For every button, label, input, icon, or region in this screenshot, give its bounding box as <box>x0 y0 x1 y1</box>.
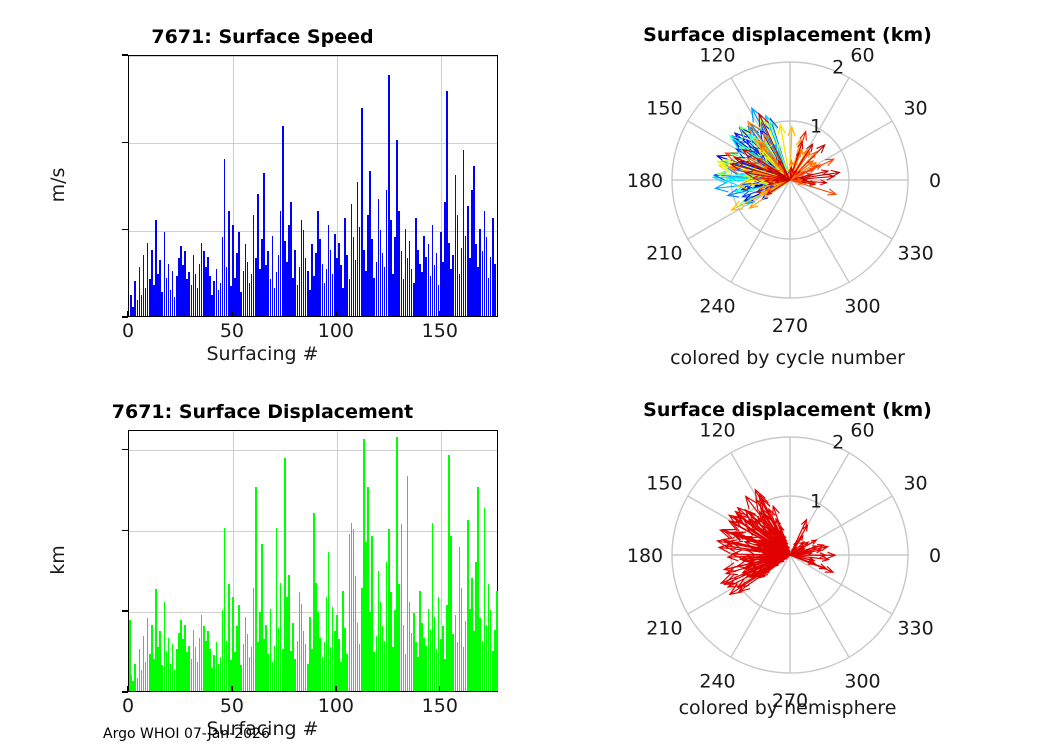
y-axis-tick-mark <box>122 449 128 450</box>
surface-speed-panel: 7671: Surface Speed 00.511.5050100150 m/… <box>0 0 525 375</box>
y-axis-tick-mark <box>122 54 128 55</box>
y-axis-tick-mark <box>122 610 128 611</box>
polar-grid-spoke <box>790 555 849 657</box>
x-axis-tick-label: 100 <box>318 695 354 717</box>
polar-angle-label: 30 <box>903 473 927 495</box>
displacement-chart-title: 7671: Surface Displacement <box>0 401 525 423</box>
x-axis-tick-mark <box>231 311 232 317</box>
x-axis-tick-label: 50 <box>220 320 244 342</box>
polar-angle-label: 0 <box>929 170 941 192</box>
x-axis-tick-mark <box>439 686 440 692</box>
x-axis-tick-label: 150 <box>422 320 458 342</box>
polar-angle-label: 300 <box>844 296 880 318</box>
polar-angle-label: 0 <box>929 545 941 567</box>
polar-angle-label: 180 <box>627 170 663 192</box>
polar-grid-spoke <box>790 180 892 239</box>
polar-radial-label-2: 2 <box>832 432 844 454</box>
polar-angle-label: 330 <box>897 618 933 640</box>
x-axis-tick-mark <box>335 311 336 317</box>
polar-cycle-plot: 030609012015018021024027030033012 <box>580 48 1000 348</box>
y-axis-tick-mark <box>122 229 128 230</box>
x-axis-tick-label: 0 <box>122 320 134 342</box>
polar-angle-label: 150 <box>646 98 682 120</box>
bar <box>496 591 498 691</box>
polar-angle-label: 60 <box>850 423 874 441</box>
polar-angle-label: 120 <box>699 48 735 66</box>
polar-radial-label-1: 1 <box>810 490 822 512</box>
polar-angle-label: 300 <box>844 671 880 693</box>
polar-angle-label: 330 <box>897 243 933 265</box>
x-axis-tick-label: 150 <box>422 695 458 717</box>
polar-angle-label: 60 <box>850 48 874 66</box>
bar-series <box>129 56 497 316</box>
speed-chart-title: 7671: Surface Speed <box>0 26 525 48</box>
speed-x-axis-label: Surfacing # <box>0 343 525 365</box>
displacement-plot-area <box>128 430 498 692</box>
polar-hemisphere-panel: Surface displacement (km) 03060901201501… <box>525 375 1050 750</box>
x-axis-tick-label: 50 <box>220 695 244 717</box>
bar-series <box>129 431 497 691</box>
polar-angle-label: 120 <box>699 423 735 441</box>
x-axis-tick-label: 0 <box>122 695 134 717</box>
polar-angle-label: 150 <box>646 473 682 495</box>
x-axis-tick-mark <box>127 686 128 692</box>
polar-cycle-caption: colored by cycle number <box>525 347 1050 369</box>
x-axis-tick-label: 100 <box>318 320 354 342</box>
polar-angle-label: 30 <box>903 98 927 120</box>
polar-hemisphere-caption: colored by hemisphere <box>525 697 1050 719</box>
polar-angle-label: 240 <box>699 296 735 318</box>
x-axis-tick-mark <box>127 311 128 317</box>
surface-displacement-panel: 7671: Surface Displacement 00.511.505010… <box>0 375 525 750</box>
polar-hemisphere-title: Surface displacement (km) <box>525 399 1050 421</box>
polar-angle-label: 210 <box>646 618 682 640</box>
speed-y-axis-label: m/s <box>47 125 69 245</box>
polar-grid-spoke <box>790 555 892 614</box>
polar-cycle-number-panel: Surface displacement (km) 03060901201501… <box>525 0 1050 375</box>
polar-radial-label-1: 1 <box>810 115 822 137</box>
polar-angle-label: 270 <box>772 315 808 337</box>
bar <box>129 620 131 691</box>
x-axis-tick-mark <box>439 311 440 317</box>
x-axis-tick-mark <box>231 686 232 692</box>
polar-grid-spoke <box>790 180 849 282</box>
speed-plot-area <box>128 55 498 317</box>
bar <box>494 264 496 316</box>
footer-credit: Argo WHOI 07-Jan-2026 <box>103 726 270 742</box>
y-axis-tick-mark <box>122 530 128 531</box>
polar-cycle-title: Surface displacement (km) <box>525 24 1050 46</box>
polar-angle-label: 210 <box>646 243 682 265</box>
polar-radial-label-2: 2 <box>832 57 844 79</box>
polar-angle-label: 180 <box>627 545 663 567</box>
polar-hemisphere-plot: 030609012015018021024027030033012 <box>580 423 1000 723</box>
y-axis-tick-mark <box>122 142 128 143</box>
displacement-y-axis-label: km <box>47 500 69 620</box>
polar-grid-spoke <box>790 121 892 180</box>
polar-angle-label: 240 <box>699 671 735 693</box>
x-axis-tick-mark <box>335 686 336 692</box>
